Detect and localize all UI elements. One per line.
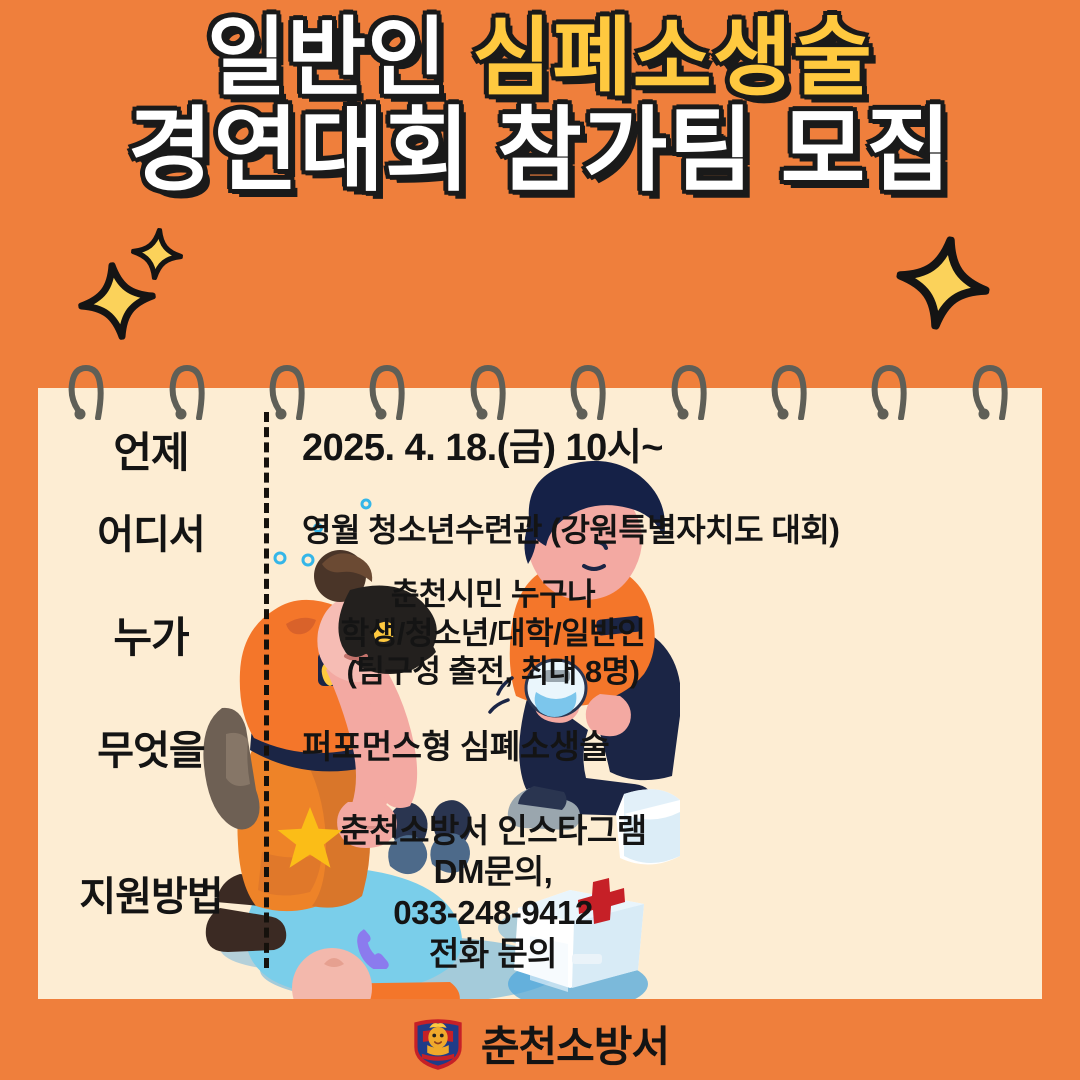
info-value-who-line-3: (팀구성 출전, 최대 8명) — [274, 653, 712, 691]
title-line-1: 일반인 심폐소생술 — [0, 16, 1080, 100]
footer: 춘천소방서 — [0, 1006, 1080, 1080]
info-value-where: 영월 청소년수련관 (강원특별자치도 대회) — [264, 511, 1042, 551]
info-label-when: 언제 — [38, 419, 264, 480]
info-value-what-line-1: 퍼포먼스형 심폐소생술 — [302, 727, 1042, 768]
title-line-1-part-2: 심폐소생술 — [472, 10, 873, 106]
info-row-what: 무엇을 퍼포먼스형 심폐소생술 — [38, 708, 1042, 786]
info-value-when-line-1: 2025. 4. 18.(금) 10시~ — [302, 425, 1042, 472]
page-title: 일반인 심폐소생술 경연대회 참가팀 모집 — [0, 16, 1080, 196]
info-value-how-line-3: 033-248-9412 — [274, 893, 712, 934]
info-table: 언제 2025. 4. 18.(금) 10시~ 어디서 영월 청소년수련관 (강… — [38, 388, 1042, 999]
info-value-how-line-4: 전화 문의 — [274, 934, 712, 975]
info-value-when: 2025. 4. 18.(금) 10시~ — [264, 425, 1042, 472]
footer-organization-name: 춘천소방서 — [481, 1013, 669, 1074]
sparkle-icon — [889, 229, 998, 338]
info-value-who: 춘천시민 누구나 학생/청소년/대학/일반인 (팀구성 출전, 최대 8명) — [264, 576, 1042, 691]
info-label-how-to-apply: 지원방법 — [38, 864, 264, 922]
info-value-who-line-1: 춘천시민 누구나 — [274, 576, 712, 614]
info-row-when: 언제 2025. 4. 18.(금) 10시~ — [38, 410, 1042, 488]
info-value-where-line-1: 영월 청소년수련관 (강원특별자치도 대회) — [302, 511, 1042, 551]
title-line-2: 경연대회 참가팀 모집 — [0, 106, 1080, 196]
chuncheon-fire-station-emblem — [411, 1015, 465, 1071]
info-row-how-to-apply: 지원방법 춘천소방서 인스타그램 DM문의, 033-248-9412 전화 문… — [38, 798, 1042, 988]
info-value-how-line-1: 춘천소방서 인스타그램 — [274, 811, 712, 852]
info-row-where: 어디서 영월 청소년수련관 (강원특별자치도 대회) — [38, 492, 1042, 570]
sparkle-icon — [73, 257, 161, 345]
sparkle-icon — [128, 225, 185, 282]
info-value-who-line-2: 학생/청소년/대학/일반인 — [274, 615, 712, 653]
info-label-what: 무엇을 — [38, 718, 264, 776]
info-label-where: 어디서 — [38, 502, 264, 560]
title-line-1-part-1: 일반인 — [207, 10, 447, 106]
info-value-how-line-2: DM문의, — [274, 852, 712, 893]
info-label-who: 누가 — [38, 604, 264, 665]
info-value-what: 퍼포먼스형 심폐소생술 — [264, 727, 1042, 768]
poster-root: 일반인 심폐소생술 경연대회 참가팀 모집 — [0, 0, 1080, 1080]
info-row-who: 누가 춘천시민 누구나 학생/청소년/대학/일반인 (팀구성 출전, 최대 8명… — [38, 566, 1042, 702]
info-value-how-to-apply: 춘천소방서 인스타그램 DM문의, 033-248-9412 전화 문의 — [264, 811, 1042, 975]
